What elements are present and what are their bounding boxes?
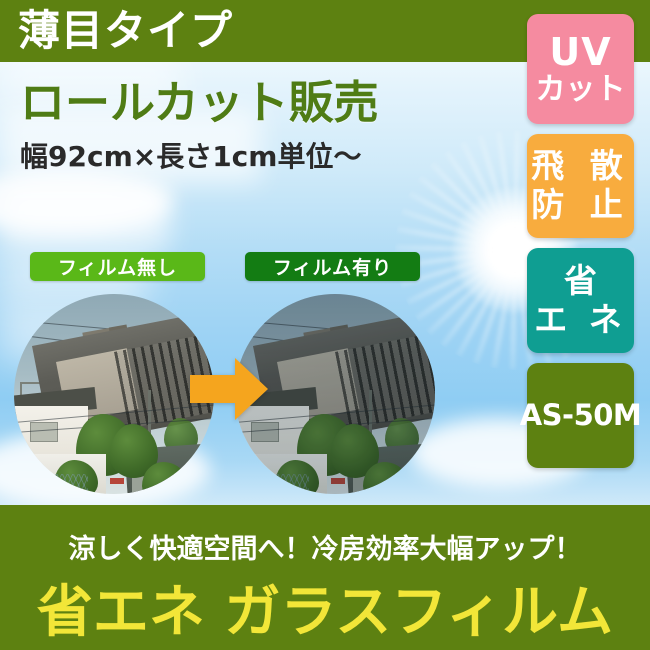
badge-energy-saving-line1: 省 xyxy=(564,264,597,299)
red-accent xyxy=(110,478,124,484)
badge-energy-saving-line2: エ ネ xyxy=(534,303,627,338)
right-arrow-icon xyxy=(190,358,268,420)
badge-uv-cut-line2: カット xyxy=(536,74,626,106)
building-scene xyxy=(14,294,214,494)
type-label: 薄目タイプ xyxy=(18,5,233,57)
badge-energy-saving: 省 エ ネ xyxy=(527,248,634,353)
footer-bar: 涼しく快適空間へ！冷房効率大幅アップ！ 省エネ ガラスフィルム xyxy=(0,505,650,650)
label-before-film: フィルム無し xyxy=(30,252,205,281)
badge-model-number: AS-50M xyxy=(527,363,634,468)
badge-model-number-line1: AS-50M xyxy=(520,400,642,431)
page-title: ロールカット販売 xyxy=(20,76,379,130)
fence-shape xyxy=(28,474,88,494)
product-banner: 薄目タイプ ロールカット販売 幅92cm×長さ1cm単位〜 フィルム無し フィル… xyxy=(0,0,650,650)
badge-uv-cut-line1: UV xyxy=(549,32,611,72)
house-window xyxy=(30,422,58,442)
badge-shatter-prevention-line1: 飛 散 xyxy=(531,149,630,184)
footer-catch-copy: 涼しく快適空間へ！冷房効率大幅アップ！ xyxy=(0,527,650,566)
cloud-shape xyxy=(0,182,170,248)
badge-shatter-prevention: 飛 散 防 止 xyxy=(527,134,634,238)
size-spec-text: 幅92cm×長さ1cm単位〜 xyxy=(20,140,361,174)
label-after-film: フィルム有り xyxy=(245,252,420,281)
badge-uv-cut: UV カット xyxy=(527,14,634,124)
photo-before-film xyxy=(14,294,214,494)
badge-shatter-prevention-line2: 防 止 xyxy=(531,188,630,223)
footer-product-name: 省エネ ガラスフィルム xyxy=(0,567,650,648)
